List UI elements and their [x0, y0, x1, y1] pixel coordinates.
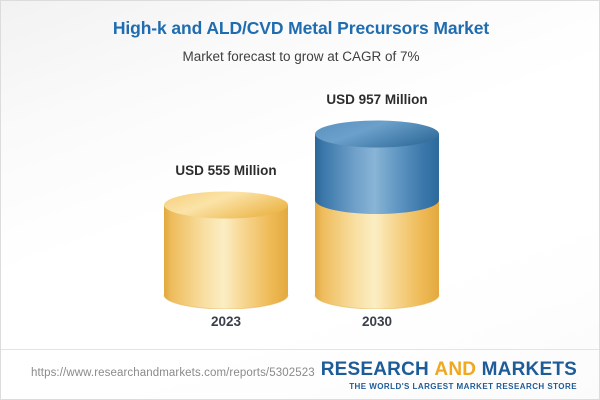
bar-group-2023: USD 555 Million — [161, 1, 291, 349]
logo-word-research: RESEARCH — [321, 359, 429, 380]
value-label-2023: USD 555 Million — [116, 163, 336, 178]
report-url-link[interactable]: https://www.researchandmarkets.com/repor… — [31, 367, 315, 379]
bar-cylinder-2030[interactable] — [312, 120, 442, 309]
logo-tagline: THE WORLD'S LARGEST MARKET RESEARCH STOR… — [321, 381, 577, 393]
logo-word-and: AND — [434, 359, 476, 380]
bar-group-2030: USD 957 Million — [312, 1, 442, 349]
chart-plot-area: USD 555 Million — [1, 1, 600, 349]
research-and-markets-logo[interactable]: RESEARCH AND MARKETS THE WORLD'S LARGEST… — [321, 359, 577, 393]
bar-cylinder-2023[interactable] — [161, 191, 291, 309]
logo-wordmark: RESEARCH AND MARKETS — [321, 359, 577, 380]
bar-2023-svg — [161, 191, 291, 309]
logo-word-markets: MARKETS — [482, 359, 577, 380]
footer: https://www.researchandmarkets.com/repor… — [1, 349, 599, 400]
infographic-canvas: High-k and ALD/CVD Metal Precursors Mark… — [0, 0, 600, 400]
bar-2030-svg — [312, 120, 442, 309]
category-label-2030: 2030 — [277, 314, 477, 329]
value-label-2030: USD 957 Million — [267, 92, 487, 107]
